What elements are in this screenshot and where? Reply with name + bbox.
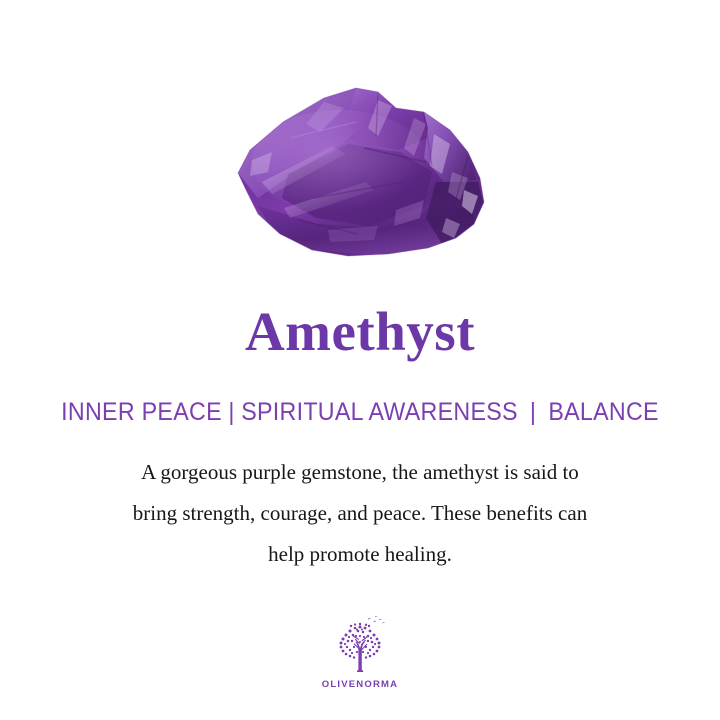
hero-image-area xyxy=(0,0,720,290)
brand-wordmark: OLIVENORMA xyxy=(0,679,720,690)
keyword-list: INNER PEACE|SPIRITUAL AWARENESS|BALANCE xyxy=(25,396,695,428)
description-text: A gorgeous purple gemstone, the amethyst… xyxy=(50,452,670,575)
keyword-balance: BALANCE xyxy=(548,398,658,426)
birds-icon xyxy=(368,616,385,624)
description-line: help promote healing. xyxy=(50,534,670,575)
amethyst-info-card: Amethyst INNER PEACE|SPIRITUAL AWARENESS… xyxy=(0,0,720,720)
tree-of-life-icon xyxy=(328,614,392,678)
keyword-inner-peace: INNER PEACE xyxy=(61,398,222,426)
brand-logo: OLIVENORMA xyxy=(0,614,720,690)
description-line: A gorgeous purple gemstone, the amethyst… xyxy=(50,452,670,493)
description-line: bring strength, courage, and peace. Thes… xyxy=(50,493,670,534)
crystal-facets xyxy=(228,78,494,268)
keyword-separator: | xyxy=(222,398,241,426)
page-title: Amethyst xyxy=(0,300,720,364)
keyword-spiritual-awareness: SPIRITUAL AWARENESS xyxy=(241,398,518,426)
amethyst-crystal-illustration xyxy=(228,78,494,268)
keyword-separator: | xyxy=(518,398,549,426)
amethyst-crystal-image xyxy=(228,78,494,268)
